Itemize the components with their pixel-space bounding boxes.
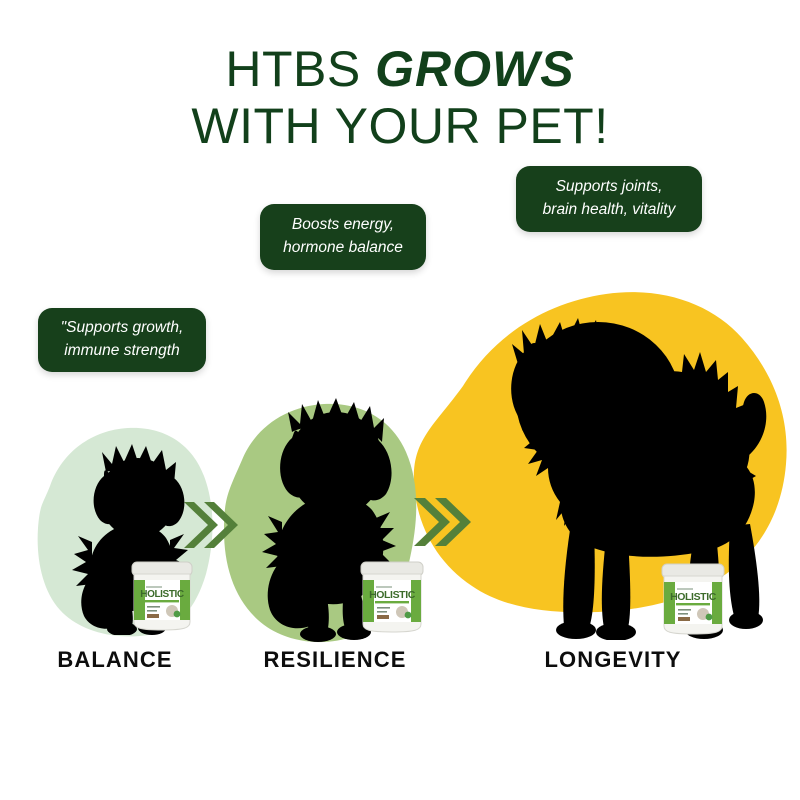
callout-balance-text: "Supports growth, immune strength: [61, 317, 184, 363]
infographic-canvas: HTBS GROWS WITH YOUR PET!: [0, 0, 800, 800]
svg-text:HOLISTIC: HOLISTIC: [369, 589, 416, 601]
headline-line-1: HTBS GROWS: [0, 44, 800, 95]
growth-arrow-1: [182, 496, 242, 554]
page-title: HTBS GROWS WITH YOUR PET!: [0, 44, 800, 152]
supplement-jar-resilience[interactable]: HOLISTIC: [357, 556, 427, 636]
callout-longevity: Supports joints, brain health, vitality: [516, 166, 702, 232]
callout-balance: "Supports growth, immune strength: [38, 308, 206, 372]
jar-graphic: HOLISTIC: [662, 564, 724, 634]
svg-text:HOLISTIC: HOLISTIC: [140, 589, 184, 600]
svg-text:HOLISTIC: HOLISTIC: [670, 591, 717, 603]
jar-graphic: HOLISTIC: [361, 562, 423, 632]
callout-resilience: Boosts energy, hormone balance: [260, 204, 426, 270]
headline-emphasis: GROWS: [375, 41, 574, 97]
callout-longevity-text: Supports joints, brain health, vitality: [543, 176, 676, 222]
supplement-jar-balance[interactable]: HOLISTIC: [128, 556, 196, 634]
headline-line-2: WITH YOUR PET!: [0, 101, 800, 152]
double-chevron-right-icon: [414, 498, 471, 546]
stage-label-longevity: LONGEVITY: [498, 647, 728, 673]
stage-label-resilience: RESILIENCE: [235, 647, 435, 673]
jar-graphic: HOLISTIC: [132, 562, 192, 630]
dog-silhouette-path: [511, 318, 766, 640]
stage-label-balance: BALANCE: [15, 647, 215, 673]
headline-prefix: HTBS: [225, 41, 375, 97]
growth-arrow-2: [412, 492, 474, 552]
supplement-jar-longevity[interactable]: HOLISTIC: [658, 558, 728, 638]
double-chevron-right-icon: [184, 502, 238, 548]
callout-resilience-text: Boosts energy, hormone balance: [283, 214, 403, 260]
